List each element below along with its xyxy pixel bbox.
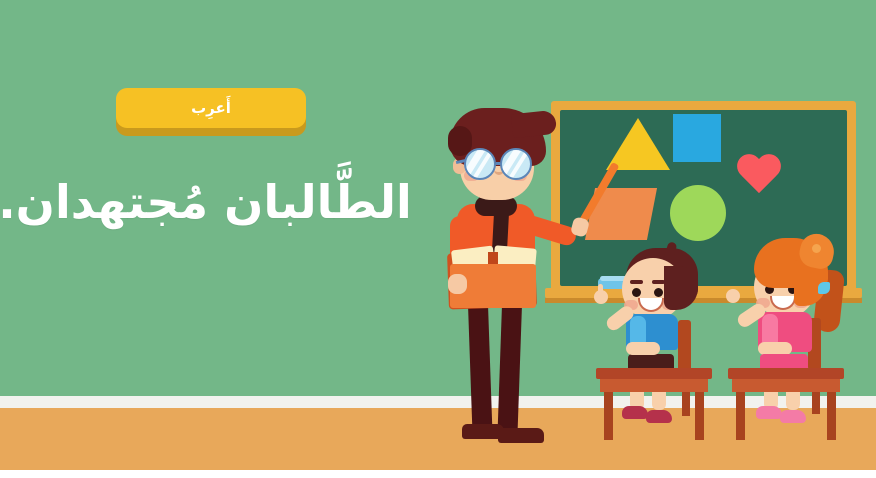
boy-chair-back xyxy=(678,320,691,372)
glasses-lens-right xyxy=(500,148,532,180)
triangle-shape xyxy=(606,118,670,170)
glasses-lens-left xyxy=(464,148,496,180)
glasses-bridge xyxy=(496,162,500,165)
glasses-icon xyxy=(456,148,540,180)
girl-desk-leg-left xyxy=(736,392,745,440)
boy-eye-right xyxy=(654,288,663,297)
girl-hair-dot xyxy=(812,244,821,253)
girl-desk-leg-right xyxy=(827,392,836,440)
boy-desk-apron xyxy=(600,379,708,392)
square-shape xyxy=(673,114,721,162)
boy-forearm xyxy=(626,342,660,355)
boy-desk-leg-right xyxy=(695,392,704,440)
girl-desk-apron xyxy=(732,379,840,392)
boy-desk-top xyxy=(596,368,712,379)
boy-brow-left xyxy=(630,280,643,284)
classroom-illustration: أَعرِب الطَّالبان مُجتهدان. xyxy=(0,0,876,478)
floor-bottom-edge xyxy=(0,470,876,478)
teacher-leg-right xyxy=(498,292,523,432)
button-face[interactable]: أَعرِب xyxy=(116,88,306,128)
student-girl xyxy=(738,256,858,456)
boy-hair-side xyxy=(664,266,698,310)
heart-shape xyxy=(735,155,783,199)
circle-shape xyxy=(670,185,726,241)
arabic-sentence: الطَّالبان مُجتهدان. xyxy=(0,162,410,242)
boy-desk-leg-left xyxy=(604,392,613,440)
boy-shoe-right xyxy=(646,410,672,423)
teacher-leg-left xyxy=(468,292,493,432)
teacher-hair-sweep xyxy=(511,110,557,138)
teacher-shoe-right xyxy=(498,428,544,443)
boy-eye-left xyxy=(632,288,641,297)
girl-hair-bow xyxy=(818,282,830,294)
girl-hand-raised xyxy=(726,289,740,303)
boy-shoe-left xyxy=(622,406,648,419)
girl-shoe-right xyxy=(780,410,806,423)
parse-button[interactable]: أَعرِب xyxy=(116,88,306,136)
teacher-hand-left xyxy=(448,274,467,294)
parse-button-label: أَعرِب xyxy=(191,99,231,117)
girl-desk-top xyxy=(728,368,844,379)
student-boy xyxy=(604,258,724,458)
teacher-figure xyxy=(420,92,590,452)
girl-shoe-left xyxy=(756,406,782,419)
boy-finger xyxy=(598,284,603,293)
